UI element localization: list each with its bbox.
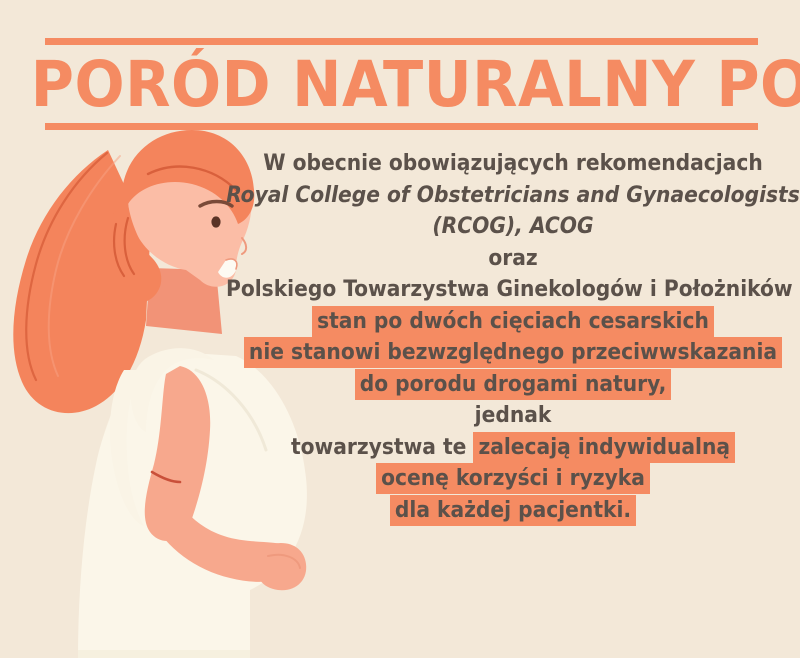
highlighted-text: stan po dwóch cięciach cesarskich [312,306,714,337]
highlighted-text: zalecają indywidualną [473,432,735,463]
body-line: ocenę korzyści i ryzyka [226,463,800,495]
dress-hem-shadow-shape [78,650,250,658]
poster-canvas: PORÓD NATURALNY PO CC [0,0,800,658]
plain-text: jednak [475,402,552,428]
body-line: Royal College of Obstetricians and Gynae… [226,180,800,212]
highlighted-text: do porodu drogami natury, [355,369,672,400]
plain-text: Royal College of Obstetricians and Gynae… [226,182,800,208]
plain-text: (RCOG), ACOG [432,213,593,239]
plain-text: W obecnie obowiązujących rekomendacjach [263,150,763,176]
highlighted-text: nie stanowi bezwzględnego przeciwwskazan… [244,337,782,368]
plain-text: towarzystwa te [291,434,473,460]
page-title: PORÓD NATURALNY PO CC [31,46,773,123]
body-line: oraz [226,243,800,275]
plain-text: Polskiego Towarzystwa Ginekologów i Poło… [226,276,800,302]
body-line: stan po dwóch cięciach cesarskich [226,306,800,338]
eye-icon [211,216,220,227]
body-line: jednak [226,400,800,432]
plain-text: oraz [488,245,537,271]
body-line: towarzystwa te zalecają indywidualną [226,432,800,464]
highlighted-text: dla każdej pacjentki. [390,495,636,526]
body-line: Polskiego Towarzystwa Ginekologów i Poło… [226,274,800,306]
title-rule-top-icon [45,38,758,45]
body-text-block: W obecnie obowiązujących rekomendacjachR… [226,148,800,526]
title-block: PORÓD NATURALNY PO CC [45,38,758,130]
body-line: do porodu drogami natury, [226,369,800,401]
body-line: dla każdej pacjentki. [226,495,800,527]
body-line: W obecnie obowiązujących rekomendacjach [226,148,800,180]
highlighted-text: ocenę korzyści i ryzyka [376,463,650,494]
body-line: nie stanowi bezwzględnego przeciwwskazan… [226,337,800,369]
body-line: (RCOG), ACOG [226,211,800,243]
